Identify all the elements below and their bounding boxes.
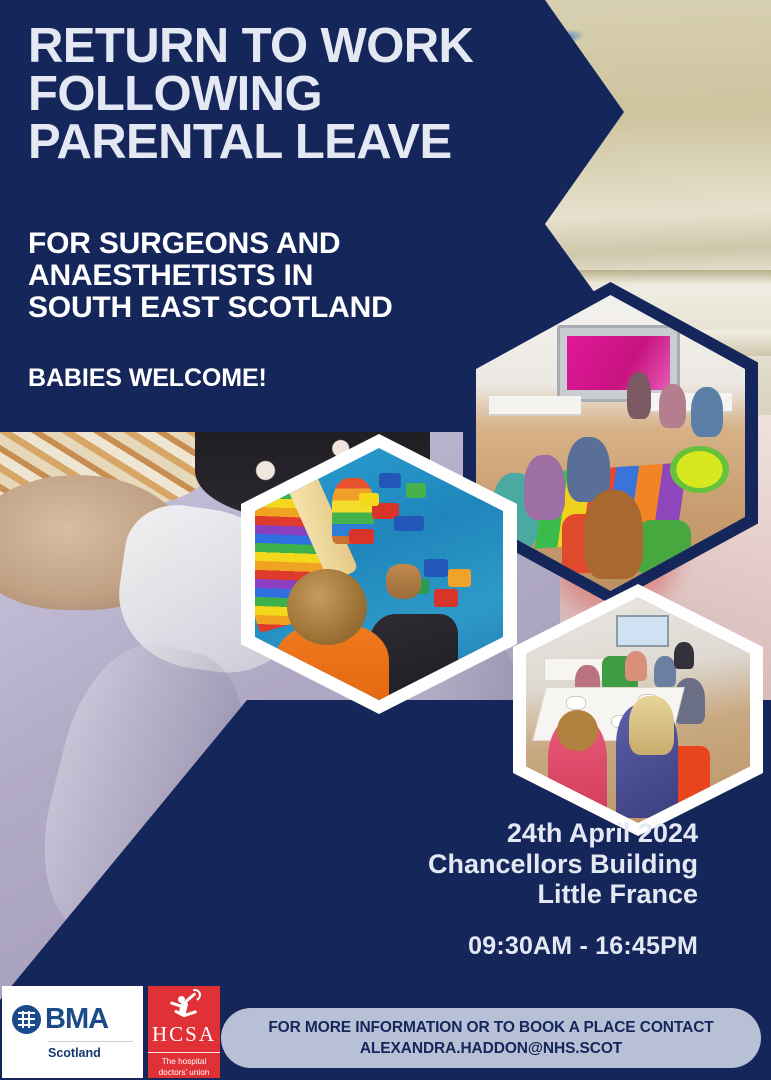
contact-instruction: FOR MORE INFORMATION OR TO BOOK A PLACE … bbox=[268, 1019, 713, 1037]
hcsa-logo: HCSA The hospital doctors' union bbox=[148, 986, 220, 1078]
event-date: 24th April 2024 bbox=[428, 818, 698, 849]
lego-brick bbox=[379, 473, 401, 488]
seated-person bbox=[584, 490, 643, 579]
hcsa-wordmark: HCSA bbox=[152, 1022, 216, 1047]
bma-monogram-icon bbox=[12, 1005, 41, 1034]
seated-delegate-hair bbox=[557, 710, 597, 751]
seated-person bbox=[691, 387, 723, 437]
seated-person bbox=[627, 372, 651, 419]
lego-brick bbox=[394, 516, 424, 531]
lego-brick bbox=[434, 589, 459, 607]
bma-divider bbox=[48, 1041, 133, 1042]
seminar-photo-content bbox=[526, 597, 750, 823]
hcsa-strapline: The hospital doctors' union bbox=[148, 1052, 220, 1078]
lego-brick bbox=[424, 559, 449, 577]
hcsa-strapline-line-2: doctors' union bbox=[148, 1068, 220, 1079]
event-details: 24th April 2024 Chancellors Building Lit… bbox=[428, 818, 698, 910]
hcsa-strapline-line-1: The hospital bbox=[148, 1057, 220, 1068]
bma-wordmark: BMA bbox=[45, 1005, 108, 1034]
lego-brick bbox=[359, 493, 379, 506]
hex-photo-lego-inner bbox=[255, 448, 503, 700]
seated-delegate-hair bbox=[629, 696, 674, 755]
event-venue: Chancellors Building bbox=[428, 849, 698, 880]
lego-brick bbox=[448, 569, 470, 587]
seated-delegate bbox=[654, 656, 676, 688]
bma-region-label: Scotland bbox=[48, 1046, 133, 1060]
poster-title: RETURN TO WORK FOLLOWING PARENTAL LEAVE bbox=[28, 22, 568, 166]
title-line-2: FOLLOWING bbox=[28, 70, 568, 118]
lego-brick bbox=[349, 529, 374, 544]
event-time: 09:30AM - 16:45PM bbox=[468, 932, 698, 961]
subtitle-line-2: ANAESTHETISTS IN bbox=[28, 260, 508, 292]
poster-subtitle: FOR SURGEONS AND ANAESTHETISTS IN SOUTH … bbox=[28, 228, 508, 324]
lego-brick bbox=[406, 483, 426, 498]
title-line-3: PARENTAL LEAVE bbox=[28, 118, 568, 166]
event-location: Little France bbox=[428, 879, 698, 910]
subtitle-line-1: FOR SURGEONS AND bbox=[28, 228, 508, 260]
child-sandal bbox=[386, 564, 421, 599]
bma-logo-row: BMA bbox=[12, 1005, 133, 1034]
babies-welcome-tagline: BABIES WELCOME! bbox=[28, 364, 267, 393]
poster-canvas: RETURN TO WORK FOLLOWING PARENTAL LEAVE … bbox=[0, 0, 771, 1080]
contact-email[interactable]: ALEXANDRA.HADDON@NHS.SCOT bbox=[360, 1040, 622, 1058]
presentation-screen bbox=[567, 336, 669, 389]
seated-delegate bbox=[674, 642, 694, 669]
hcsa-running-figure-icon bbox=[167, 990, 201, 1021]
seated-delegate bbox=[625, 651, 647, 680]
lego-photo-content bbox=[255, 448, 503, 700]
contact-banner[interactable]: FOR MORE INFORMATION OR TO BOOK A PLACE … bbox=[221, 1008, 761, 1068]
title-line-1: RETURN TO WORK bbox=[28, 22, 568, 70]
coffee-cup bbox=[566, 696, 586, 710]
subtitle-line-3: SOUTH EAST SCOTLAND bbox=[28, 292, 508, 324]
hex-photo-seminar-inner bbox=[526, 597, 750, 823]
bma-scotland-logo: BMA Scotland bbox=[2, 986, 143, 1078]
baby-walker bbox=[670, 446, 729, 493]
table bbox=[489, 396, 580, 417]
seated-person bbox=[524, 455, 564, 520]
seated-person bbox=[659, 384, 686, 428]
child-head bbox=[287, 569, 366, 645]
projector-screen bbox=[616, 615, 670, 647]
